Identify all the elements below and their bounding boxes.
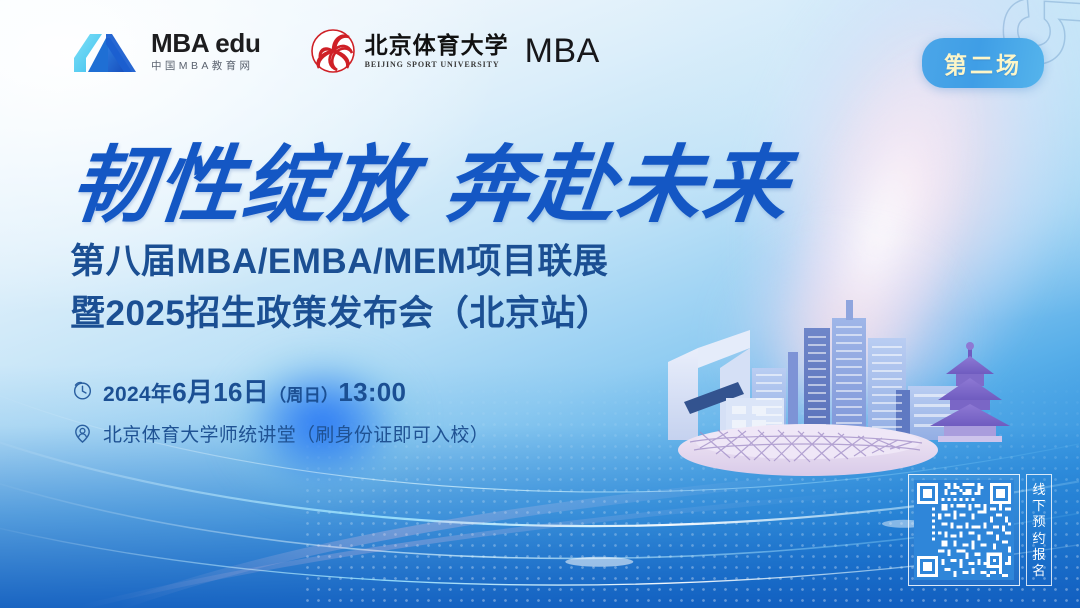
bsu-program-label: MBA bbox=[525, 32, 600, 71]
date-weekday: （周日） bbox=[269, 386, 338, 405]
event-time: 13:00 bbox=[338, 377, 406, 407]
beijing-skyline-illustration bbox=[660, 290, 1080, 500]
mbaedu-title: MBA edu bbox=[151, 30, 261, 56]
mbaedu-chevron-logo-icon bbox=[72, 28, 140, 74]
bsu-name-en: BEIJING SPORT UNIVERSITY bbox=[365, 61, 509, 69]
qr-label-char-5: 名 bbox=[1032, 564, 1045, 577]
qr-label-char-3: 约 bbox=[1032, 532, 1045, 545]
qr-label-vertical: 线 下 预 约 报 名 bbox=[1026, 474, 1052, 586]
session-badge: 第二场 bbox=[922, 38, 1044, 88]
qr-label-char-2: 预 bbox=[1032, 515, 1045, 528]
event-info: 2024年6月16日（周日）13:00 北京体育大学师统讲堂（刷身份证即可入校） bbox=[72, 372, 489, 458]
location-pin-person-icon bbox=[72, 423, 93, 444]
event-datetime: 2024年6月16日（周日）13:00 bbox=[103, 372, 406, 409]
clock-icon bbox=[72, 380, 93, 401]
bsu-name-cn: 北京体育大学 bbox=[365, 34, 509, 57]
headline-part-2: 奔赴未来 bbox=[440, 135, 794, 234]
tower-c bbox=[832, 318, 866, 440]
date-month: 6月 bbox=[172, 377, 213, 407]
qr-code-frame[interactable] bbox=[908, 474, 1020, 586]
qr-label-char-1: 下 bbox=[1032, 499, 1045, 512]
event-venue-row: 北京体育大学师统讲堂（刷身份证即可入校） bbox=[72, 420, 489, 447]
headline-part-1: 韧性绽放 bbox=[66, 135, 420, 234]
birds-nest-stadium bbox=[678, 424, 938, 476]
mbaedu-subtitle: 中国MBA教育网 bbox=[151, 61, 261, 72]
event-venue: 北京体育大学师统讲堂（刷身份证即可入校） bbox=[103, 420, 489, 447]
bsu-swirl-logo-icon bbox=[311, 29, 355, 73]
event-datetime-row: 2024年6月16日（周日）13:00 bbox=[72, 372, 489, 409]
header-logos: MBA edu 中国MBA教育网 北京体育大学 BEIJI bbox=[72, 28, 600, 74]
date-year: 2024年 bbox=[103, 383, 172, 406]
mbaedu-logo[interactable]: MBA edu 中国MBA教育网 bbox=[72, 28, 261, 74]
registration-qr-block[interactable]: 线 下 预 约 报 名 bbox=[908, 474, 1052, 586]
event-subtitle: 第八届MBA/EMBA/MEM项目联展 暨2025招生政策发布会（北京站） bbox=[70, 236, 611, 340]
subtitle-line-1: 第八届MBA/EMBA/MEM项目联展 bbox=[70, 236, 611, 288]
qr-label-char-4: 报 bbox=[1032, 548, 1045, 561]
qr-label-char-0: 线 bbox=[1032, 483, 1045, 496]
page-title: 韧性绽放奔赴未来 bbox=[66, 118, 797, 239]
date-day: 16日 bbox=[213, 377, 269, 407]
qr-code-image[interactable] bbox=[914, 480, 1014, 580]
subtitle-line-2: 暨2025招生政策发布会（北京站） bbox=[70, 288, 611, 340]
event-poster: 2025 MBA bbox=[0, 0, 1080, 608]
bsu-logo[interactable]: 北京体育大学 BEIJING SPORT UNIVERSITY MBA bbox=[311, 29, 600, 73]
